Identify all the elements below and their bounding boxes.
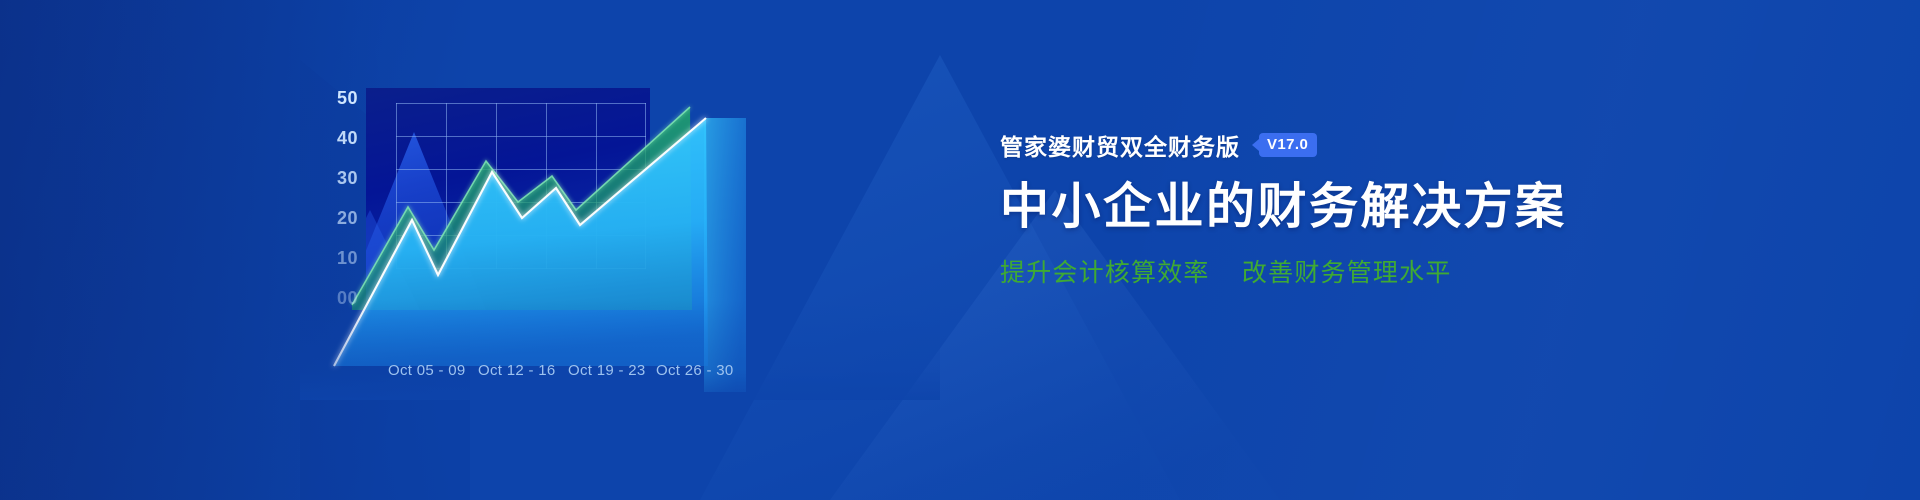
- y-tick-10: 10: [337, 248, 358, 269]
- y-tick-00: 00: [337, 288, 358, 309]
- product-name-row: 管家婆财贸双全财务版 V17.0: [1000, 128, 1600, 162]
- y-tick-30: 30: [337, 168, 358, 189]
- subheadline-right: 改善财务管理水平: [1242, 259, 1452, 287]
- x-tick-2: Oct 19 - 23: [568, 362, 646, 379]
- chart-x-axis: Oct 05 - 09 Oct 12 - 16 Oct 19 - 23 Oct …: [360, 362, 920, 386]
- banner-subheadline: 提升会计核算效率 改善财务管理水平: [1000, 253, 1600, 289]
- banner-headline: 中小企业的财务解决方案: [1000, 180, 1600, 235]
- x-tick-0: Oct 05 - 09: [388, 362, 466, 379]
- x-tick-3: Oct 26 - 30: [656, 362, 734, 379]
- background-decoration: [0, 0, 1920, 500]
- subheadline-left: 提升会计核算效率: [1000, 259, 1210, 287]
- product-name: 管家婆财贸双全财务版: [1000, 128, 1240, 162]
- promo-banner: 50 40 30 20 10 00 Oct 05 - 09 Oct 12 - 1…: [0, 0, 1920, 500]
- version-badge-label: V17.0: [1259, 133, 1317, 157]
- y-tick-50: 50: [337, 88, 358, 109]
- x-tick-1: Oct 12 - 16: [478, 362, 556, 379]
- banner-text-block: 管家婆财贸双全财务版 V17.0 中小企业的财务解决方案 提升会计核算效率 改善…: [1000, 128, 1600, 358]
- version-badge-notch-icon: [1252, 139, 1259, 151]
- growth-chart: 50 40 30 20 10 00 Oct 05 - 09 Oct 12 - 1…: [300, 60, 940, 400]
- y-tick-20: 20: [337, 208, 358, 229]
- version-badge: V17.0: [1252, 133, 1317, 157]
- y-tick-40: 40: [337, 128, 358, 149]
- chart-svg: [300, 60, 940, 400]
- background-shapes-svg: [0, 0, 1920, 500]
